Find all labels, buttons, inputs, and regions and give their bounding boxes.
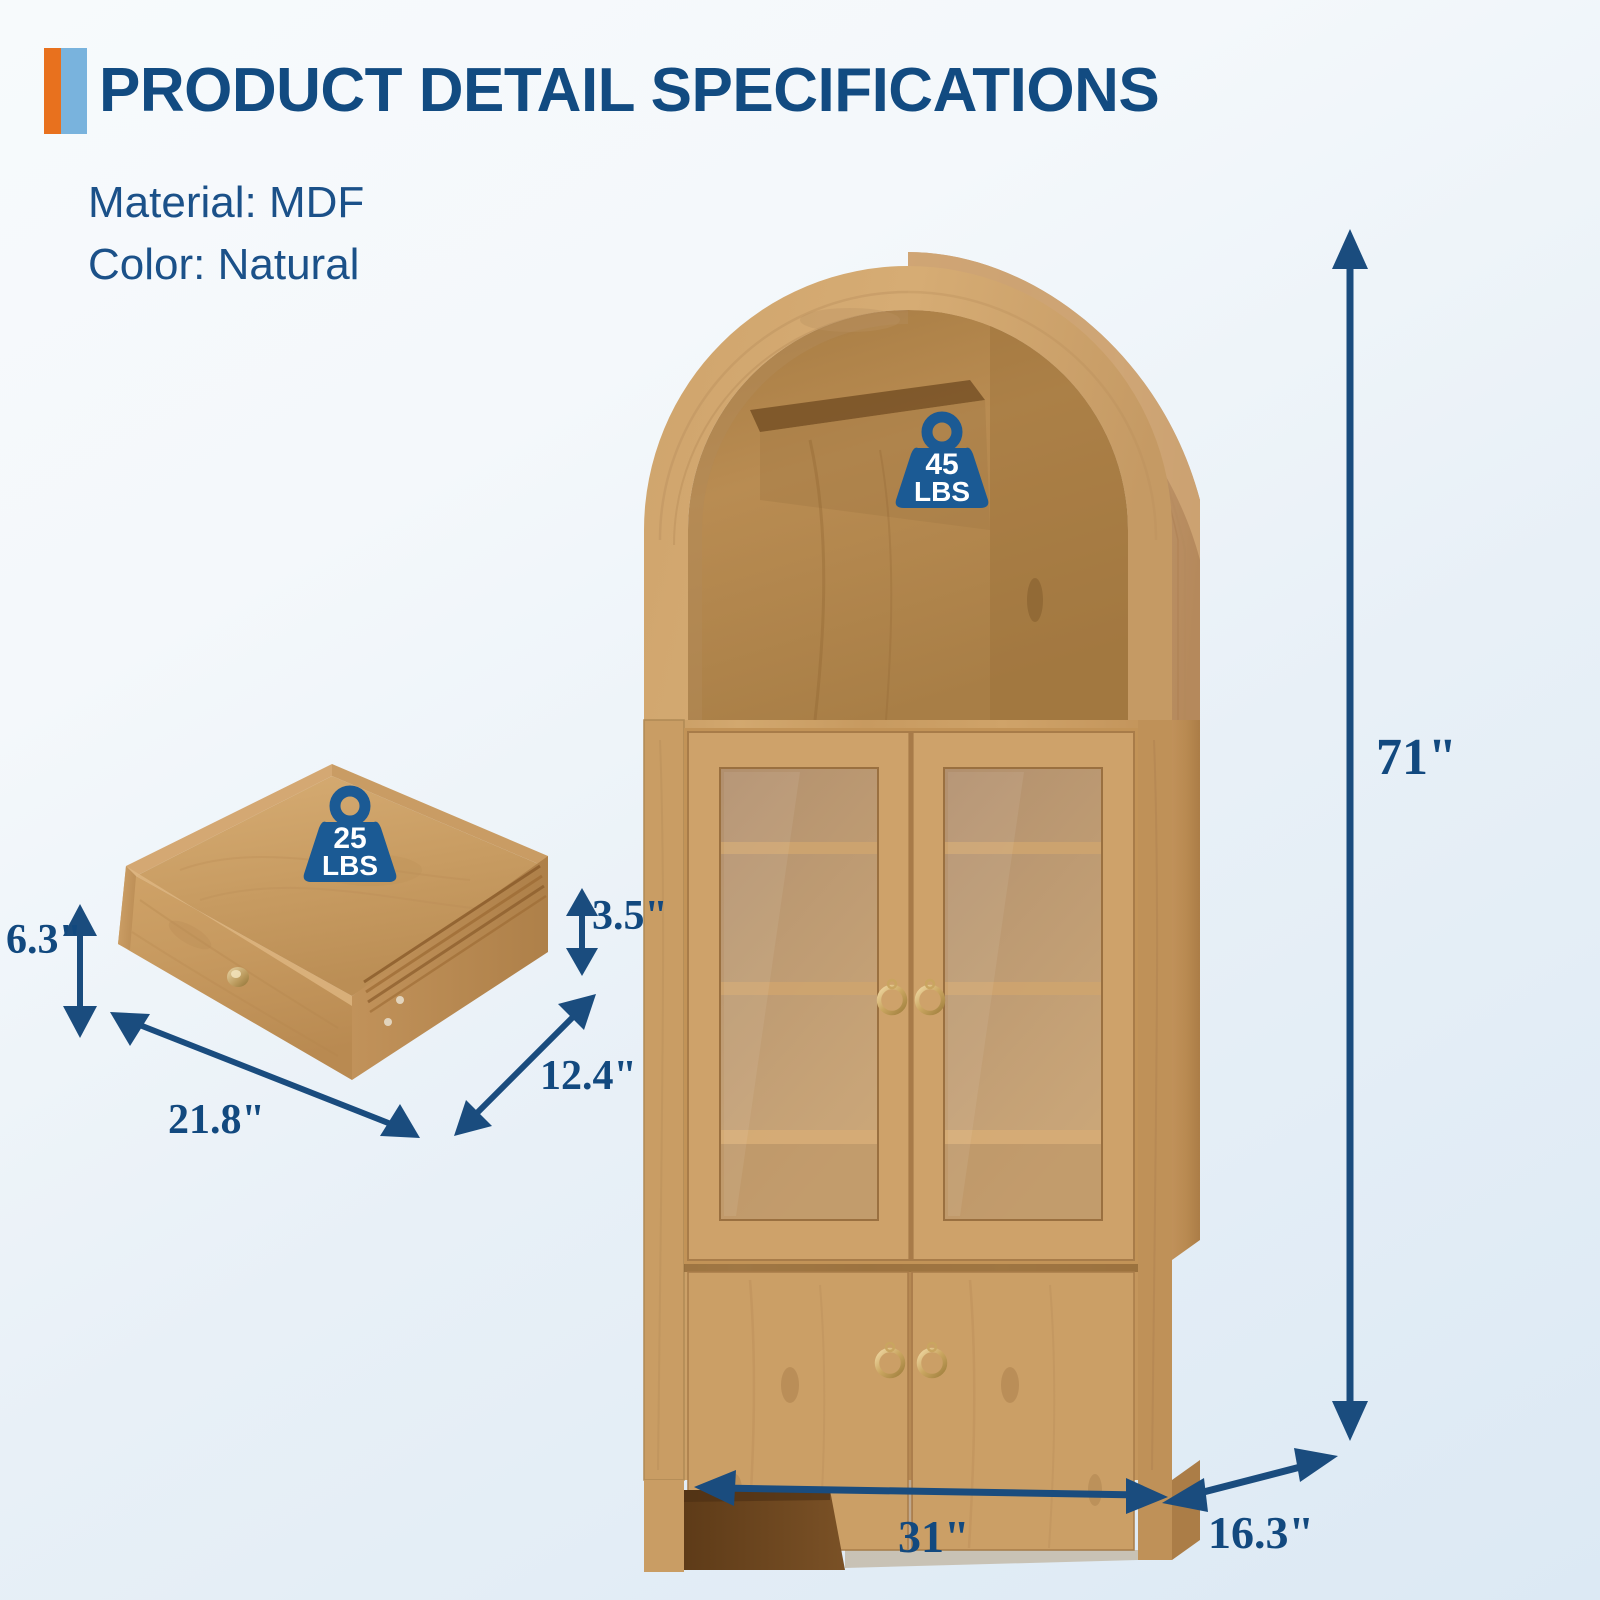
cabinet-height-label: 71" [1376, 728, 1457, 787]
glass-door-left[interactable] [688, 732, 910, 1260]
cabinet-width-label: 31" [898, 1510, 970, 1563]
shelf-weight-unit: LBS [914, 476, 970, 507]
drawer-weight-unit: LBS [322, 850, 378, 881]
product-spec-page: PRODUCT DETAIL SPECIFICATIONS Material: … [0, 0, 1600, 1600]
drawer-depth-label: 12.4" [540, 1052, 637, 1100]
drawer-weight-badge: 25 LBS [296, 786, 404, 884]
accent-bar-orange [44, 48, 61, 134]
drawer-width-dimension [100, 1000, 430, 1150]
spec-material: Material: MDF [88, 178, 364, 228]
arched-cabinet-illustration [640, 200, 1420, 1500]
spec-color: Color: Natural [88, 240, 359, 290]
cabinet-glass-door-section [684, 728, 1138, 1264]
drawer-width-label: 21.8" [168, 1096, 265, 1144]
accent-bar-blue [61, 48, 87, 134]
page-title: PRODUCT DETAIL SPECIFICATIONS [87, 48, 1159, 134]
drawer-knob[interactable] [227, 967, 249, 987]
cabinet-height-dimension [1320, 225, 1380, 1445]
page-header: PRODUCT DETAIL SPECIFICATIONS [44, 48, 1159, 134]
cabinet-depth-dimension [1160, 1446, 1340, 1508]
drawer-back-height-label: 3.5" [592, 892, 668, 940]
cabinet-depth-label: 16.3" [1208, 1506, 1314, 1559]
drawer-front-height-label: 6.3" [6, 916, 82, 964]
glass-door-right[interactable] [912, 732, 1134, 1260]
shelf-weight-badge: 45 LBS [888, 412, 996, 510]
